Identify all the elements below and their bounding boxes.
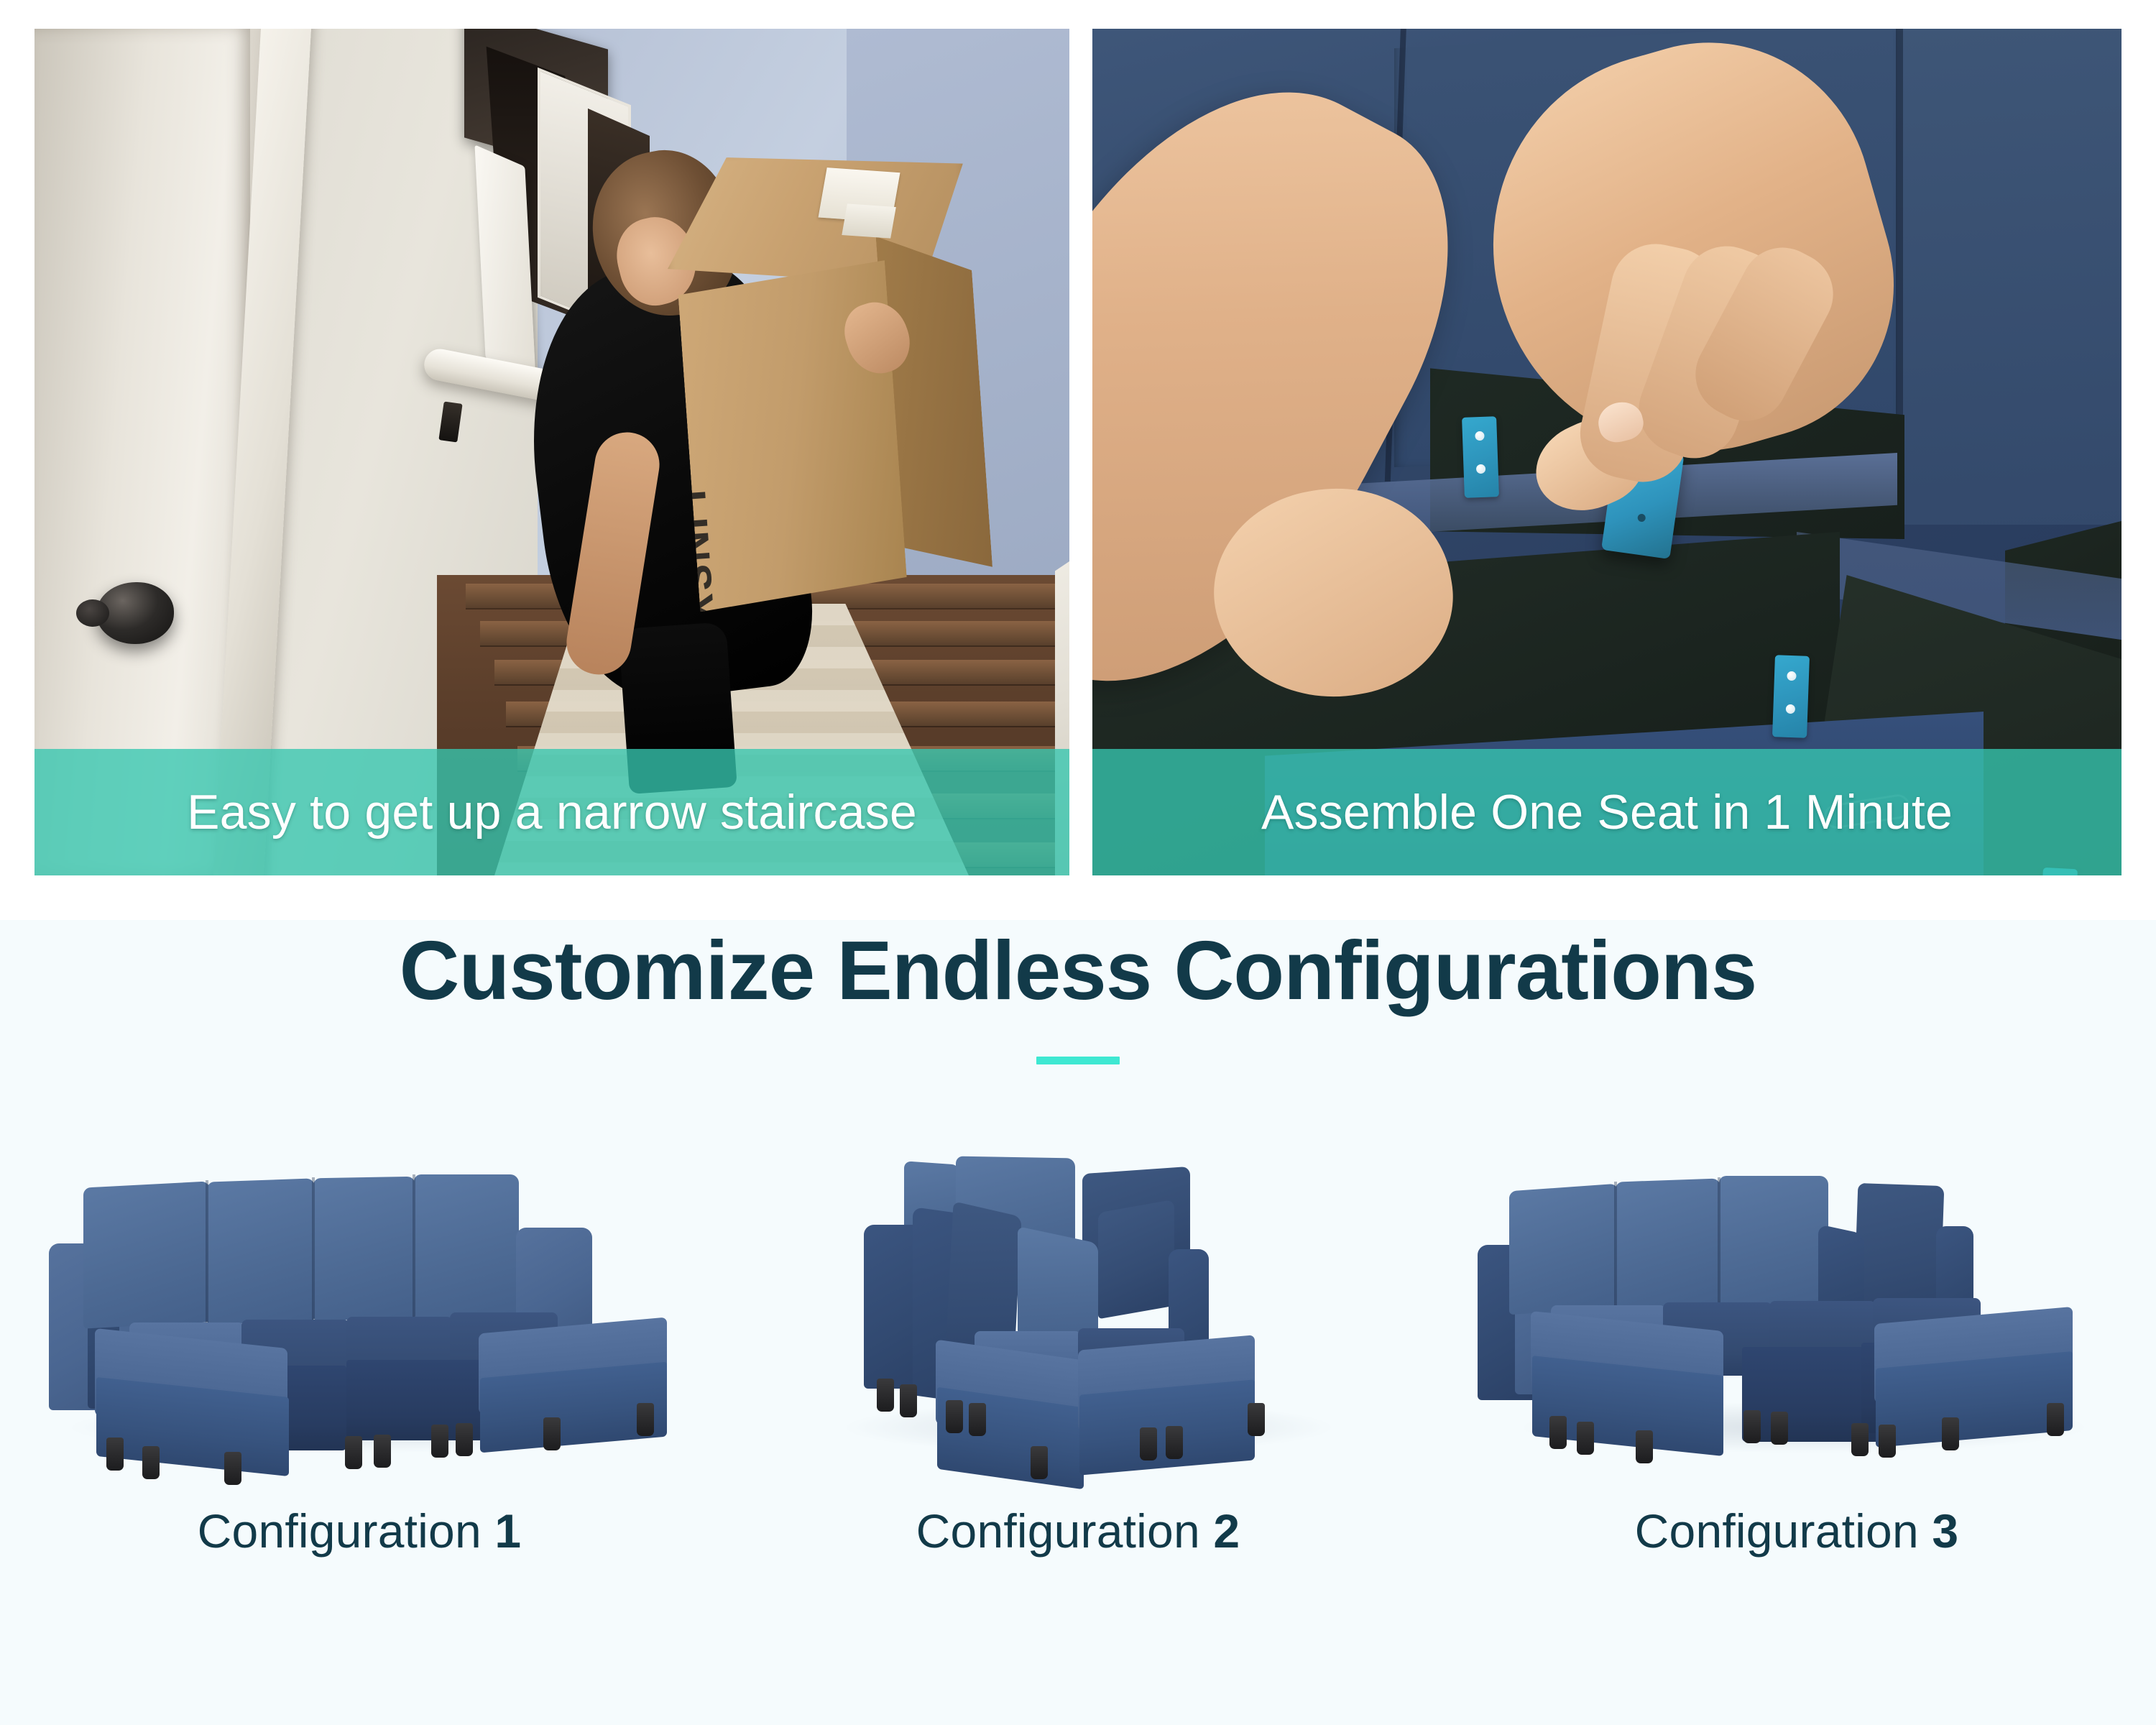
configuration-card-1[interactable]: Configuration 1	[0, 1150, 719, 1725]
configuration-label-prefix-2: Configuration	[916, 1504, 1200, 1558]
caption-band-staircase: Easy to get up a narrow staircase	[34, 749, 1069, 875]
configuration-number-3: 3	[1932, 1504, 1958, 1558]
configuration-card-2[interactable]: Configuration 2	[719, 1150, 1437, 1725]
configuration-number-2: 2	[1213, 1504, 1240, 1558]
caption-text-assembly: Assemble One Seat in 1 Minute	[1092, 784, 2122, 840]
configuration-label-1: Configuration 1	[198, 1504, 522, 1558]
sofa-illustration-2	[740, 1150, 1416, 1459]
configuration-label-2: Configuration 2	[916, 1504, 1240, 1558]
assembly-photo: Assemble One Seat in 1 Minute	[1092, 29, 2122, 875]
caption-band-assembly: Assemble One Seat in 1 Minute	[1092, 749, 2122, 875]
sofa-illustration-3	[1459, 1150, 2134, 1459]
shipping-label-secondary	[842, 203, 896, 238]
caption-text-staircase: Easy to get up a narrow staircase	[34, 784, 1069, 840]
heading-divider	[1036, 1057, 1120, 1064]
sofa-backrest-right	[1897, 29, 2122, 525]
heading-section: Customize Endless Configurations	[0, 927, 2156, 1064]
connector-clip-icon	[1462, 416, 1499, 498]
configuration-card-3[interactable]: Configuration 3	[1437, 1150, 2156, 1725]
staircase-photo: LINSY HOME Easy to get up a narrow stair…	[34, 29, 1069, 875]
page-title: Customize Endless Configurations	[0, 927, 2156, 1015]
configuration-label-3: Configuration 3	[1635, 1504, 1959, 1558]
configuration-gallery: Configuration 1	[0, 1150, 2156, 1725]
configuration-label-prefix-3: Configuration	[1635, 1504, 1919, 1558]
shipping-box: LINSY HOME	[671, 169, 986, 604]
sofa-illustration-1	[22, 1150, 697, 1459]
door-knob	[96, 582, 174, 644]
connector-clip-icon	[1772, 655, 1810, 738]
configuration-number-1: 1	[494, 1504, 521, 1558]
configuration-label-prefix-1: Configuration	[198, 1504, 482, 1558]
